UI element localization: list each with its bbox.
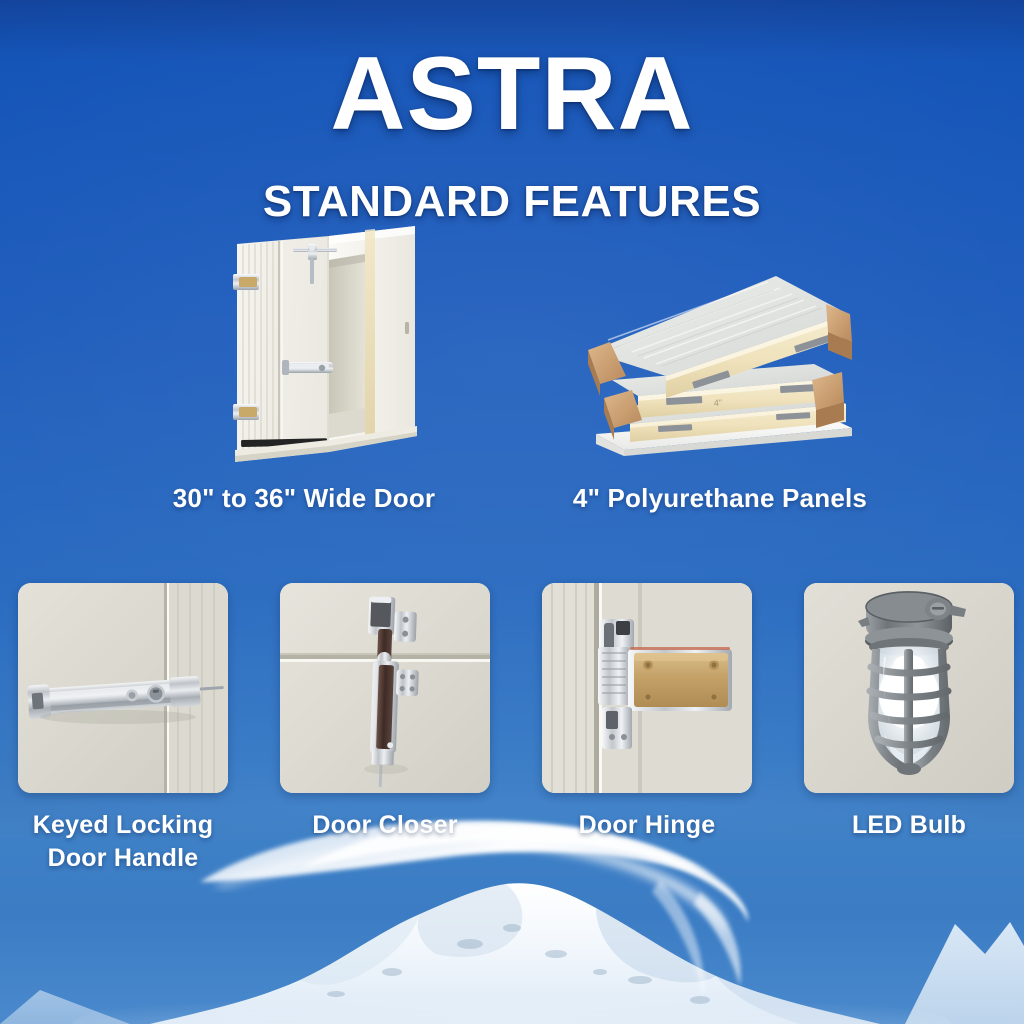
page-title: ASTRA: [0, 42, 1024, 146]
thumbnail-card: [542, 583, 752, 793]
feature-caption: 30" to 36" Wide Door: [139, 482, 469, 515]
door-closer-image: [280, 583, 490, 793]
feature-led-bulb: LED Bulb: [804, 583, 1014, 874]
feature-polyurethane-panels: 4": [555, 218, 885, 515]
feature-keyed-locking-handle: Keyed Locking Door Handle: [18, 583, 228, 874]
insulated-panels-figure: 4": [555, 218, 885, 466]
thumbnail-card: [280, 583, 490, 793]
svg-text:4": 4": [714, 398, 723, 408]
bottom-feature-row: Keyed Locking Door Handle: [18, 583, 1006, 874]
walk-in-cooler-figure: [139, 218, 469, 466]
door-hinge-image: [542, 583, 752, 793]
handle-detail: [282, 360, 333, 375]
thumbnail-card: [18, 583, 228, 793]
door-handle-lock-image: [18, 583, 228, 793]
walk-in-cooler-box-image: [179, 218, 429, 466]
feature-caption: LED Bulb: [804, 809, 1014, 842]
header: ASTRA STANDARD FEATURES: [0, 0, 1024, 224]
feature-door-closer: Door Closer: [280, 583, 490, 874]
insulated-panels-stack-image: 4": [580, 256, 860, 466]
top-feature-row: 30" to 36" Wide Door: [0, 218, 1024, 515]
feature-walk-in-door: 30" to 36" Wide Door: [139, 218, 469, 515]
led-vapor-proof-light-image: [804, 583, 1014, 793]
feature-caption: Door Hinge: [542, 809, 752, 842]
feature-caption: Keyed Locking Door Handle: [18, 809, 228, 874]
hinge-top: [233, 274, 259, 290]
thumbnail-card: [804, 583, 1014, 793]
feature-caption: Door Closer: [280, 809, 490, 842]
feature-door-hinge: Door Hinge: [542, 583, 752, 874]
hinge-bottom: [233, 404, 259, 420]
page-subtitle: STANDARD FEATURES: [0, 180, 1024, 224]
feature-caption: 4" Polyurethane Panels: [555, 482, 885, 515]
